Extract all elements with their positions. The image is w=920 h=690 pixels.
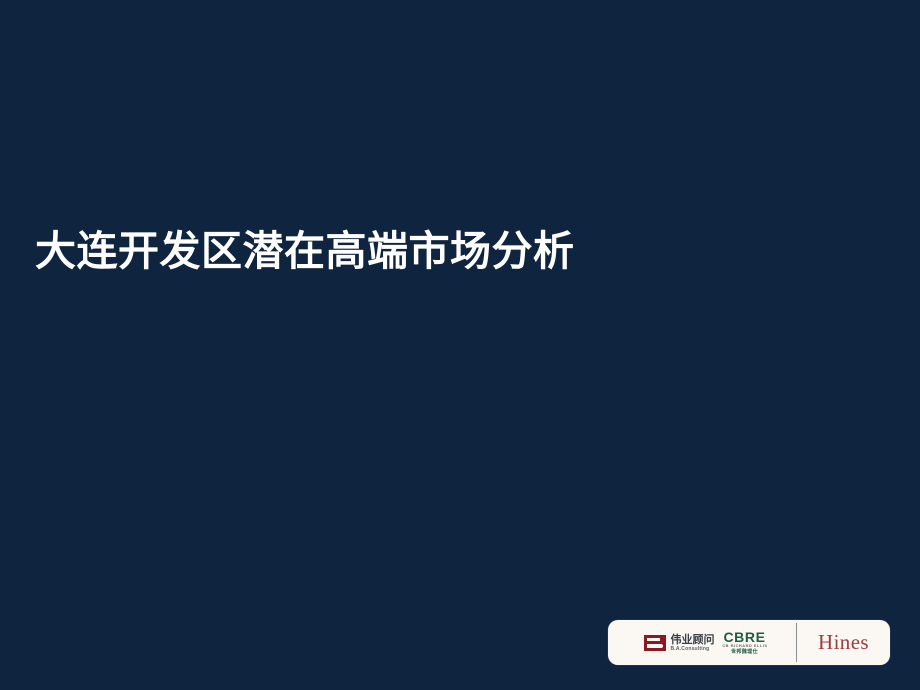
partner-logo-bar: 伟业顾问 B.A.Consulting CBRE CB RICHARD ELLI… (608, 620, 890, 665)
ba-consulting-text: 伟业顾问 B.A.Consulting (670, 634, 714, 652)
cbre-logo: CBRE CB RICHARD ELLIS 世邦魏理仕 (723, 630, 765, 656)
cbre-subtitle-en: CB RICHARD ELLIS (722, 645, 767, 649)
ba-consulting-mark-icon (644, 635, 666, 651)
logo-group-primary: 伟业顾问 B.A.Consulting CBRE CB RICHARD ELLI… (608, 620, 796, 665)
hines-wordmark: Hines (818, 630, 869, 655)
cbre-wordmark: CBRE (723, 630, 765, 644)
page-title: 大连开发区潜在高端市场分析 (35, 228, 835, 275)
title-slide: 大连开发区潜在高端市场分析 伟业顾问 B.A.Consulting CBRE C… (0, 0, 920, 690)
ba-consulting-logo: 伟业顾问 B.A.Consulting (644, 634, 714, 652)
ba-consulting-name-cn: 伟业顾问 (670, 634, 714, 645)
cbre-subtitle-cn: 世邦魏理仕 (731, 650, 758, 655)
logo-group-secondary: Hines (797, 620, 890, 665)
ba-consulting-name-en: B.A.Consulting (670, 647, 714, 652)
